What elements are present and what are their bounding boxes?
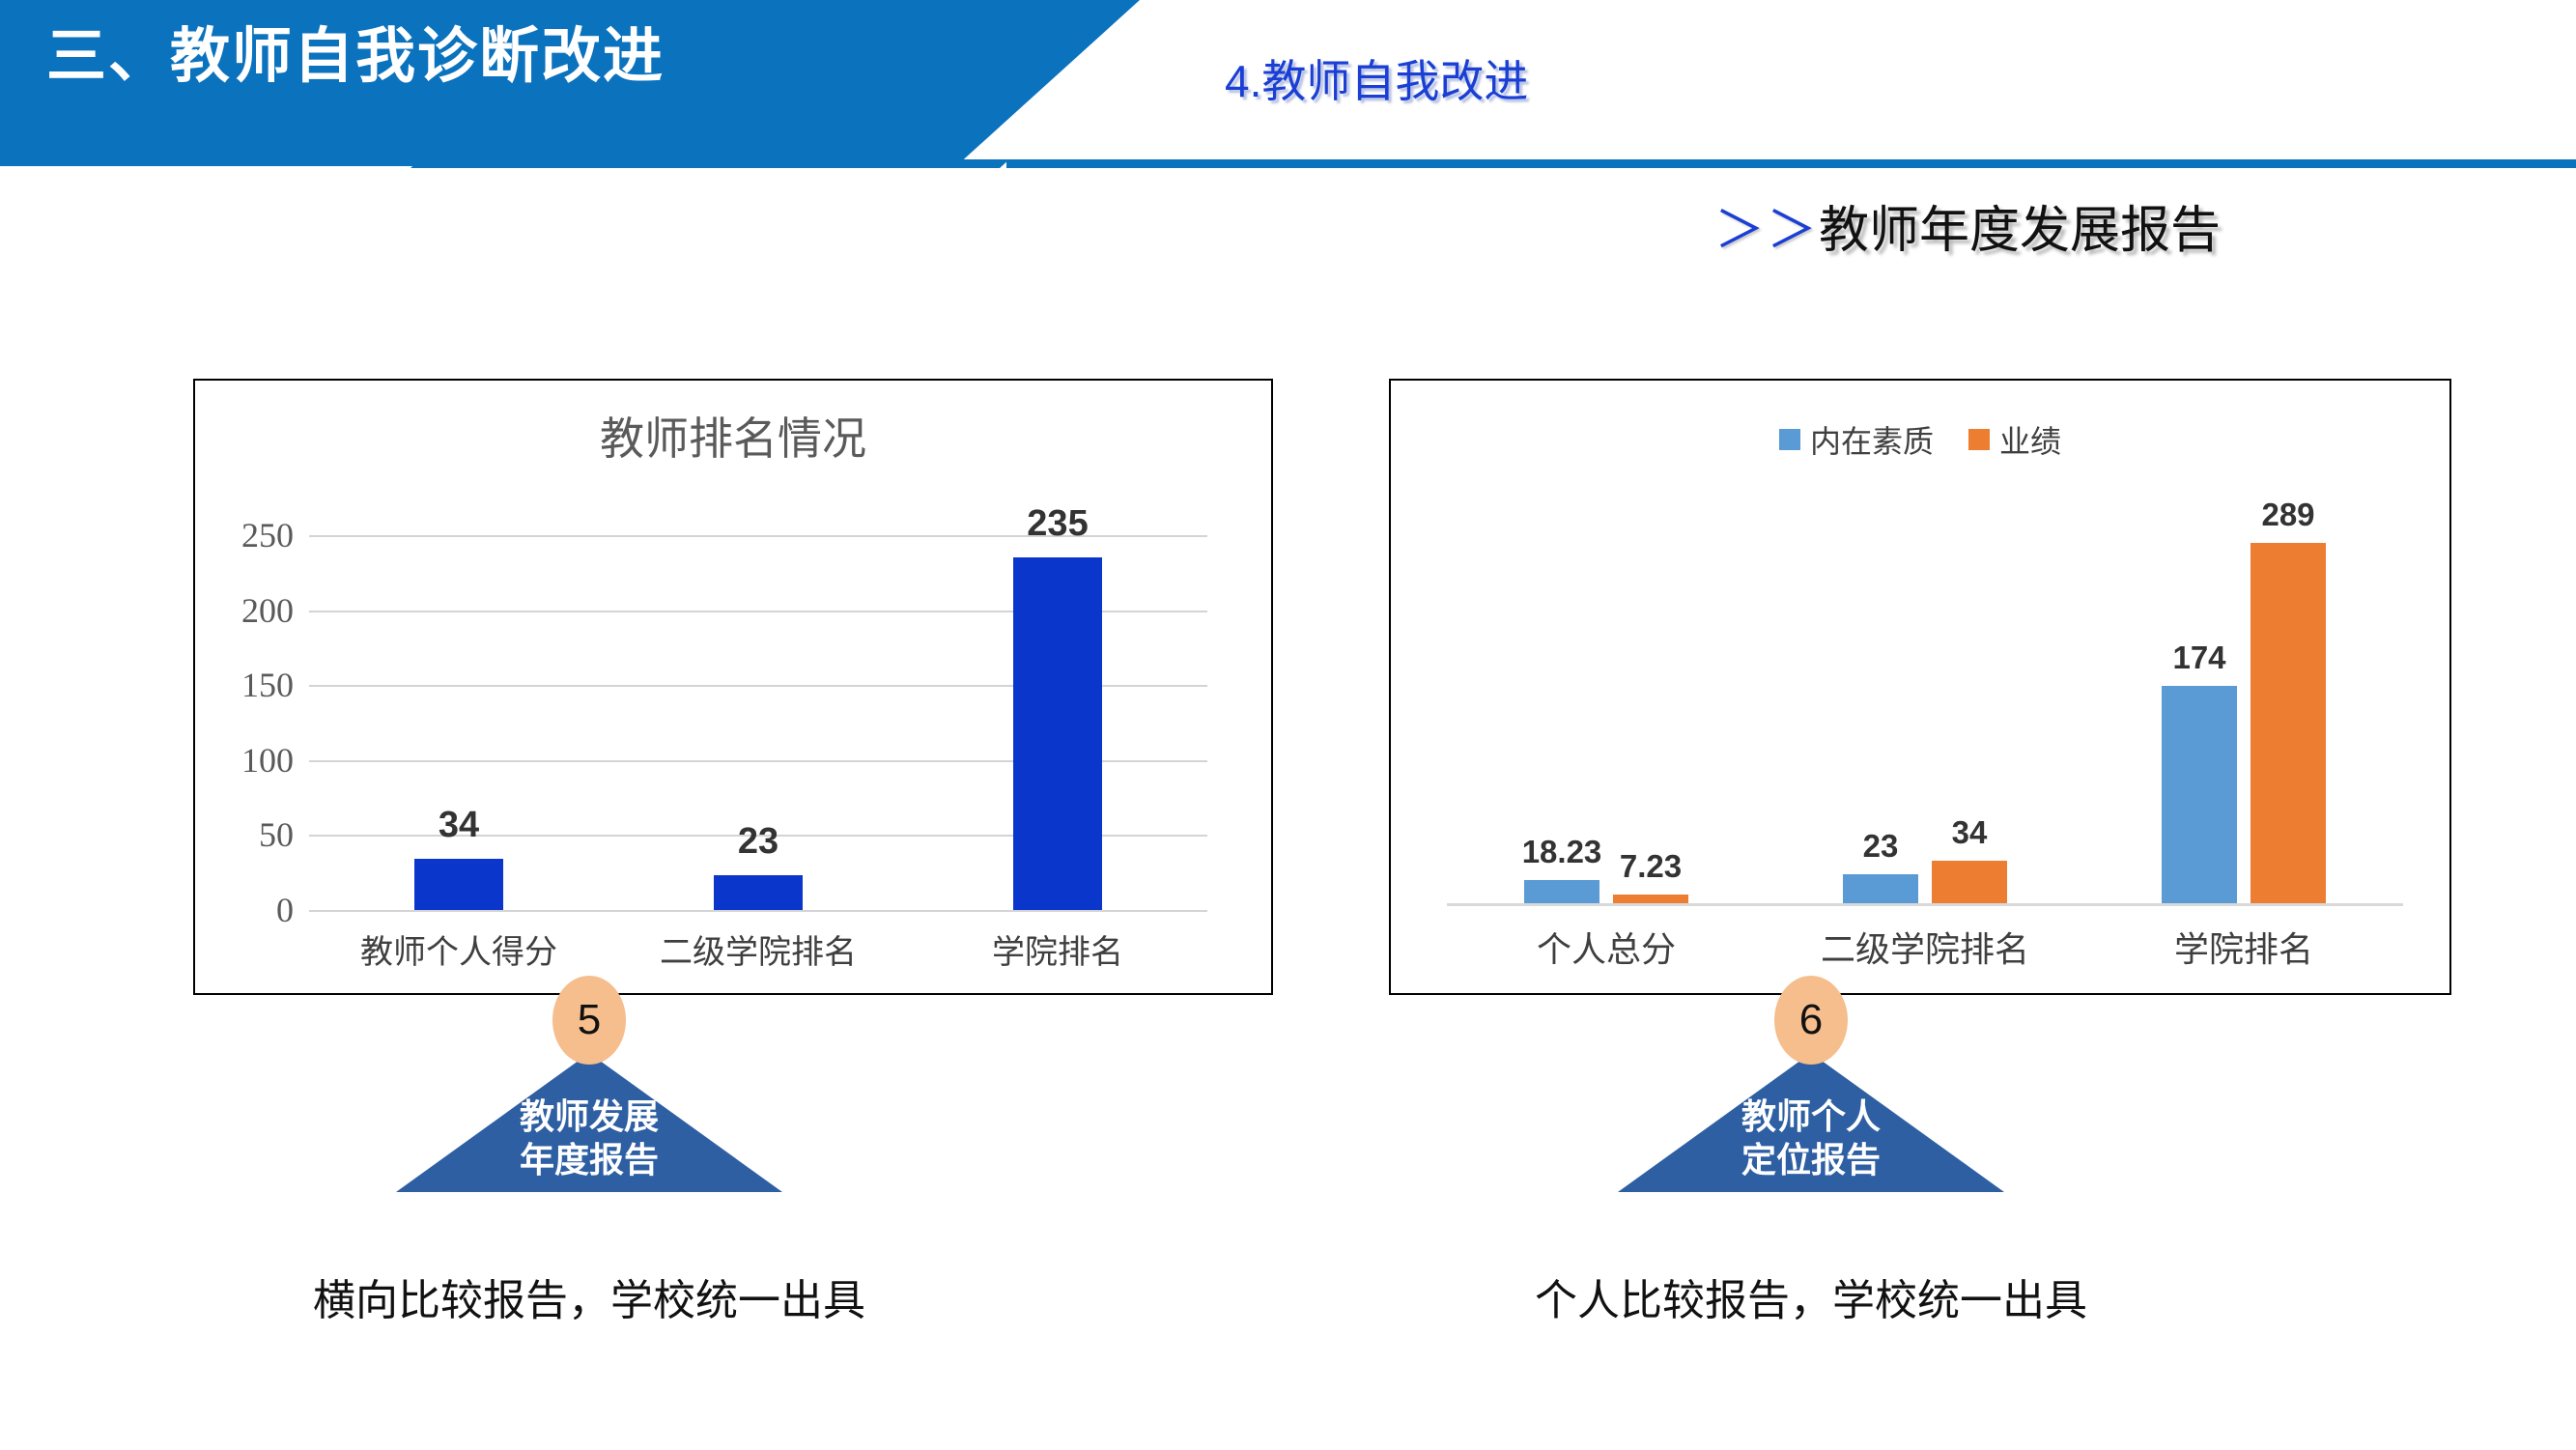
header-subtitle: 4.教师自我改进 [1225,46,1528,110]
bar [2162,686,2237,903]
chart-title-left: 教师排名情况 [195,404,1271,468]
x-axis-category-label: 学院排名 [992,925,1123,973]
bar [1013,557,1102,910]
y-axis-tick-label: 50 [259,814,294,855]
x-axis-category-label: 个人总分 [1537,922,1676,972]
legend-swatch-icon [1779,429,1800,450]
caption-right: 个人比较报告，学校统一出具 [1376,1265,2246,1327]
bar-value-label: 7.23 [1620,848,1682,885]
caption-left: 横向比较报告，学校统一出具 [155,1265,1024,1327]
gridline: 0 [309,910,1207,912]
x-axis-category-label: 二级学院排名 [1821,922,2029,972]
bar [414,859,503,910]
bar-value-label: 18.23 [1522,834,1602,870]
page-title: 三、教师自我诊断改进 [46,21,665,93]
legend-swatch-icon [1968,429,1990,450]
bar-value-label: 23 [1863,828,1899,865]
legend-item: 内在素质 [1779,417,1934,462]
bar [1613,895,1688,903]
y-axis-tick-label: 0 [276,890,294,930]
teacher-ranking-chart-panel: 教师排名情况 25020015010050034教师个人得分23二级学院排名23… [193,379,1273,995]
triangle-label-right: 教师个人 定位报告 [1618,1095,2004,1181]
x-axis-category-label: 学院排名 [2174,922,2313,972]
step-badge-6: 6 [1774,976,1848,1065]
axis-baseline [1447,903,2403,906]
bar [1843,874,1918,903]
legend-label: 内在素质 [1810,417,1934,462]
y-axis-tick-label: 250 [241,515,294,555]
x-axis-category-label: 教师个人得分 [360,925,557,973]
bar [2250,543,2326,903]
bar-value-label: 289 [2261,497,2314,533]
triangle-label-left: 教师发展 年度报告 [396,1095,782,1181]
x-axis-category-label: 二级学院排名 [660,925,857,973]
bar-value-label: 235 [1027,503,1088,545]
chevron-right-icon: ＞＞ [1714,203,1819,259]
personal-position-chart-panel: 内在素质业绩 18.237.23个人总分2334二级学院排名174289学院排名 [1389,379,2451,995]
bar [714,875,803,910]
step-badge-5: 5 [552,976,626,1065]
header-underline-right [1006,159,2576,168]
legend-item: 业绩 [1968,417,2061,462]
chart-legend-right: 内在素质业绩 [1391,417,2449,462]
y-axis-tick-label: 150 [241,665,294,705]
y-axis-tick-label: 100 [241,740,294,781]
bar [1524,880,1599,903]
plot-area-left: 25020015010050034教师个人得分23二级学院排名235学院排名 [309,535,1207,910]
plot-area-right: 18.237.23个人总分2334二级学院排名174289学院排名 [1447,504,2403,906]
bar-value-label: 23 [738,821,778,863]
legend-label: 业绩 [1999,417,2061,462]
bar [1932,861,2007,903]
bar-value-label: 34 [439,805,479,846]
header-underline-left [410,159,1009,168]
section-heading-label: 教师年度发展报告 [1819,203,2221,259]
bar-value-label: 34 [1952,814,1988,851]
section-heading: ＞＞教师年度发展报告 [1714,189,2221,262]
y-axis-tick-label: 200 [241,590,294,631]
bar-value-label: 174 [2172,640,2225,676]
